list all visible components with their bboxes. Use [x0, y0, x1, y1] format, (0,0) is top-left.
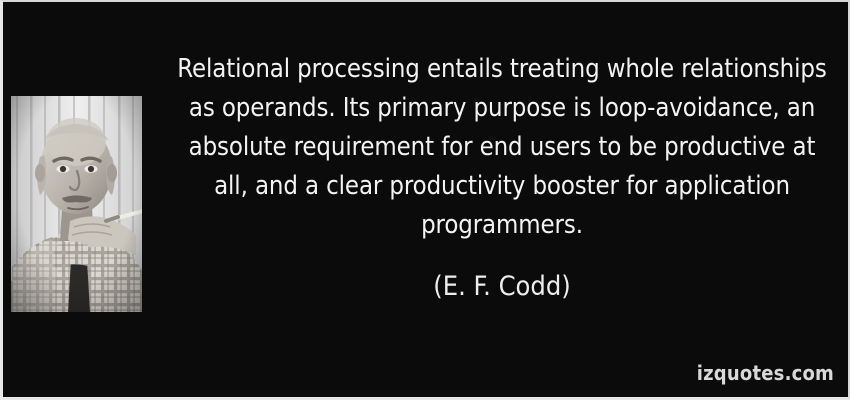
watermark: izquotes.com: [697, 361, 834, 385]
quote-text: Relational processing entails treating w…: [153, 50, 850, 245]
quote-line: programmers.: [153, 206, 850, 245]
quote-attribution: (E. F. Codd): [153, 270, 850, 304]
quote-card: Relational processing entails treating w…: [0, 0, 850, 400]
quote-line: all, and a clear productivity booster fo…: [153, 167, 850, 206]
quote-line: absolute requirement for end users to be…: [153, 128, 850, 167]
quote-line: as operands. Its primary purpose is loop…: [153, 89, 850, 128]
quote-line: Relational processing entails treating w…: [153, 50, 850, 89]
portrait-photo: [10, 95, 143, 313]
portrait-illustration: [10, 95, 143, 313]
